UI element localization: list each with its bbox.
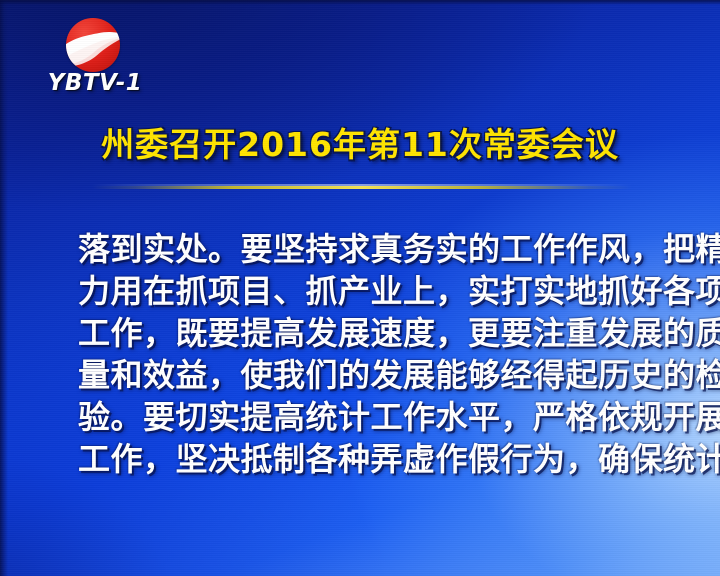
news-headline: 州委召开2016年第11次常委会议 <box>0 118 720 166</box>
headline-divider <box>92 186 632 189</box>
body-line: 量和效益，使我们的发展能够经得起历史的检 <box>78 354 650 396</box>
background-edge-left <box>0 0 8 576</box>
body-line: 力用在抓项目、抓产业上，实打实地抓好各项 <box>78 270 650 312</box>
body-line: 验。要切实提高统计工作水平，严格依规开展 <box>78 396 650 438</box>
news-body: 落到实处。要坚持求真务实的工作作风，把精 力用在抓项目、抓产业上，实打实地抓好各… <box>78 228 650 480</box>
background-edge-top <box>0 0 720 5</box>
body-line: 工作，既要提高发展速度，更要注重发展的质 <box>78 312 650 354</box>
channel-logo: YBTV-1 <box>34 18 156 102</box>
body-line: 工作，坚决抵制各种弄虚作假行为，确保统计 <box>78 438 650 480</box>
body-line: 落到实处。要坚持求真务实的工作作风，把精 <box>78 228 650 270</box>
channel-logo-icon <box>66 18 120 72</box>
broadcast-screen: YBTV-1 州委召开2016年第11次常委会议 落到实处。要坚持求真务实的工作… <box>0 0 720 576</box>
swoosh-icon <box>66 32 120 67</box>
channel-wordmark: YBTV-1 <box>34 70 156 96</box>
